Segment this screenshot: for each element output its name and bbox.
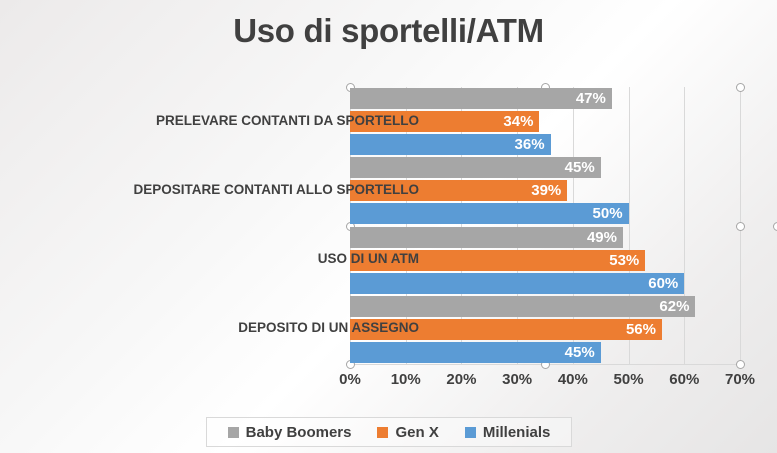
chart-title: Uso di sportelli/ATM xyxy=(0,12,777,50)
legend-item[interactable]: Gen X xyxy=(377,424,438,441)
bar-millenials[interactable]: 45% xyxy=(350,342,601,363)
category-label: DEPOSITO DI UN ASSEGNO xyxy=(238,320,419,335)
legend-swatch-icon xyxy=(465,427,476,438)
category-label: USO DI UN ATM xyxy=(318,251,419,266)
legend-item[interactable]: Baby Boomers xyxy=(228,424,352,441)
legend-swatch-icon xyxy=(377,427,388,438)
x-tick-label: 40% xyxy=(558,371,588,388)
bar-value-label: 45% xyxy=(565,157,595,178)
legend-label: Baby Boomers xyxy=(246,424,352,441)
bar-millenials[interactable]: 50% xyxy=(350,203,629,224)
bar-millenials[interactable]: 36% xyxy=(350,134,551,155)
chart-area[interactable]: Uso di sportelli/ATM 47%34%36%45%39%50%4… xyxy=(0,0,777,453)
chart-legend[interactable]: Baby BoomersGen XMillenials xyxy=(206,417,572,447)
x-tick-label: 60% xyxy=(669,371,699,388)
category-label: DEPOSITARE CONTANTI ALLO SPORTELLO xyxy=(134,182,420,197)
bar-value-label: 47% xyxy=(576,88,606,109)
legend-label: Gen X xyxy=(395,424,438,441)
bar-value-label: 45% xyxy=(565,342,595,363)
x-tick-label: 20% xyxy=(446,371,476,388)
x-tick-label: 10% xyxy=(391,371,421,388)
bar-value-label: 34% xyxy=(503,111,533,132)
bar-value-label: 49% xyxy=(587,227,617,248)
bar-value-label: 39% xyxy=(531,180,561,201)
legend-swatch-icon xyxy=(228,427,239,438)
x-tick-label: 0% xyxy=(339,371,361,388)
legend-label: Millenials xyxy=(483,424,551,441)
legend-item[interactable]: Millenials xyxy=(465,424,551,441)
x-tick-label: 50% xyxy=(614,371,644,388)
bar-baby-boomers[interactable]: 49% xyxy=(350,227,623,248)
bar-value-label: 50% xyxy=(593,203,623,224)
bar-value-label: 36% xyxy=(515,134,545,155)
x-tick-label: 70% xyxy=(725,371,755,388)
x-tick-label: 30% xyxy=(502,371,532,388)
selection-handle-far-right[interactable] xyxy=(773,222,777,231)
bar-baby-boomers[interactable]: 62% xyxy=(350,296,695,317)
category-label: PRELEVARE CONTANTI DA SPORTELLO xyxy=(156,113,419,128)
bar-value-label: 60% xyxy=(648,273,678,294)
bar-millenials[interactable]: 60% xyxy=(350,273,684,294)
bar-baby-boomers[interactable]: 45% xyxy=(350,157,601,178)
bar-value-label: 56% xyxy=(626,319,656,340)
bar-baby-boomers[interactable]: 47% xyxy=(350,88,612,109)
bar-value-label: 53% xyxy=(609,250,639,271)
bar-value-label: 62% xyxy=(659,296,689,317)
